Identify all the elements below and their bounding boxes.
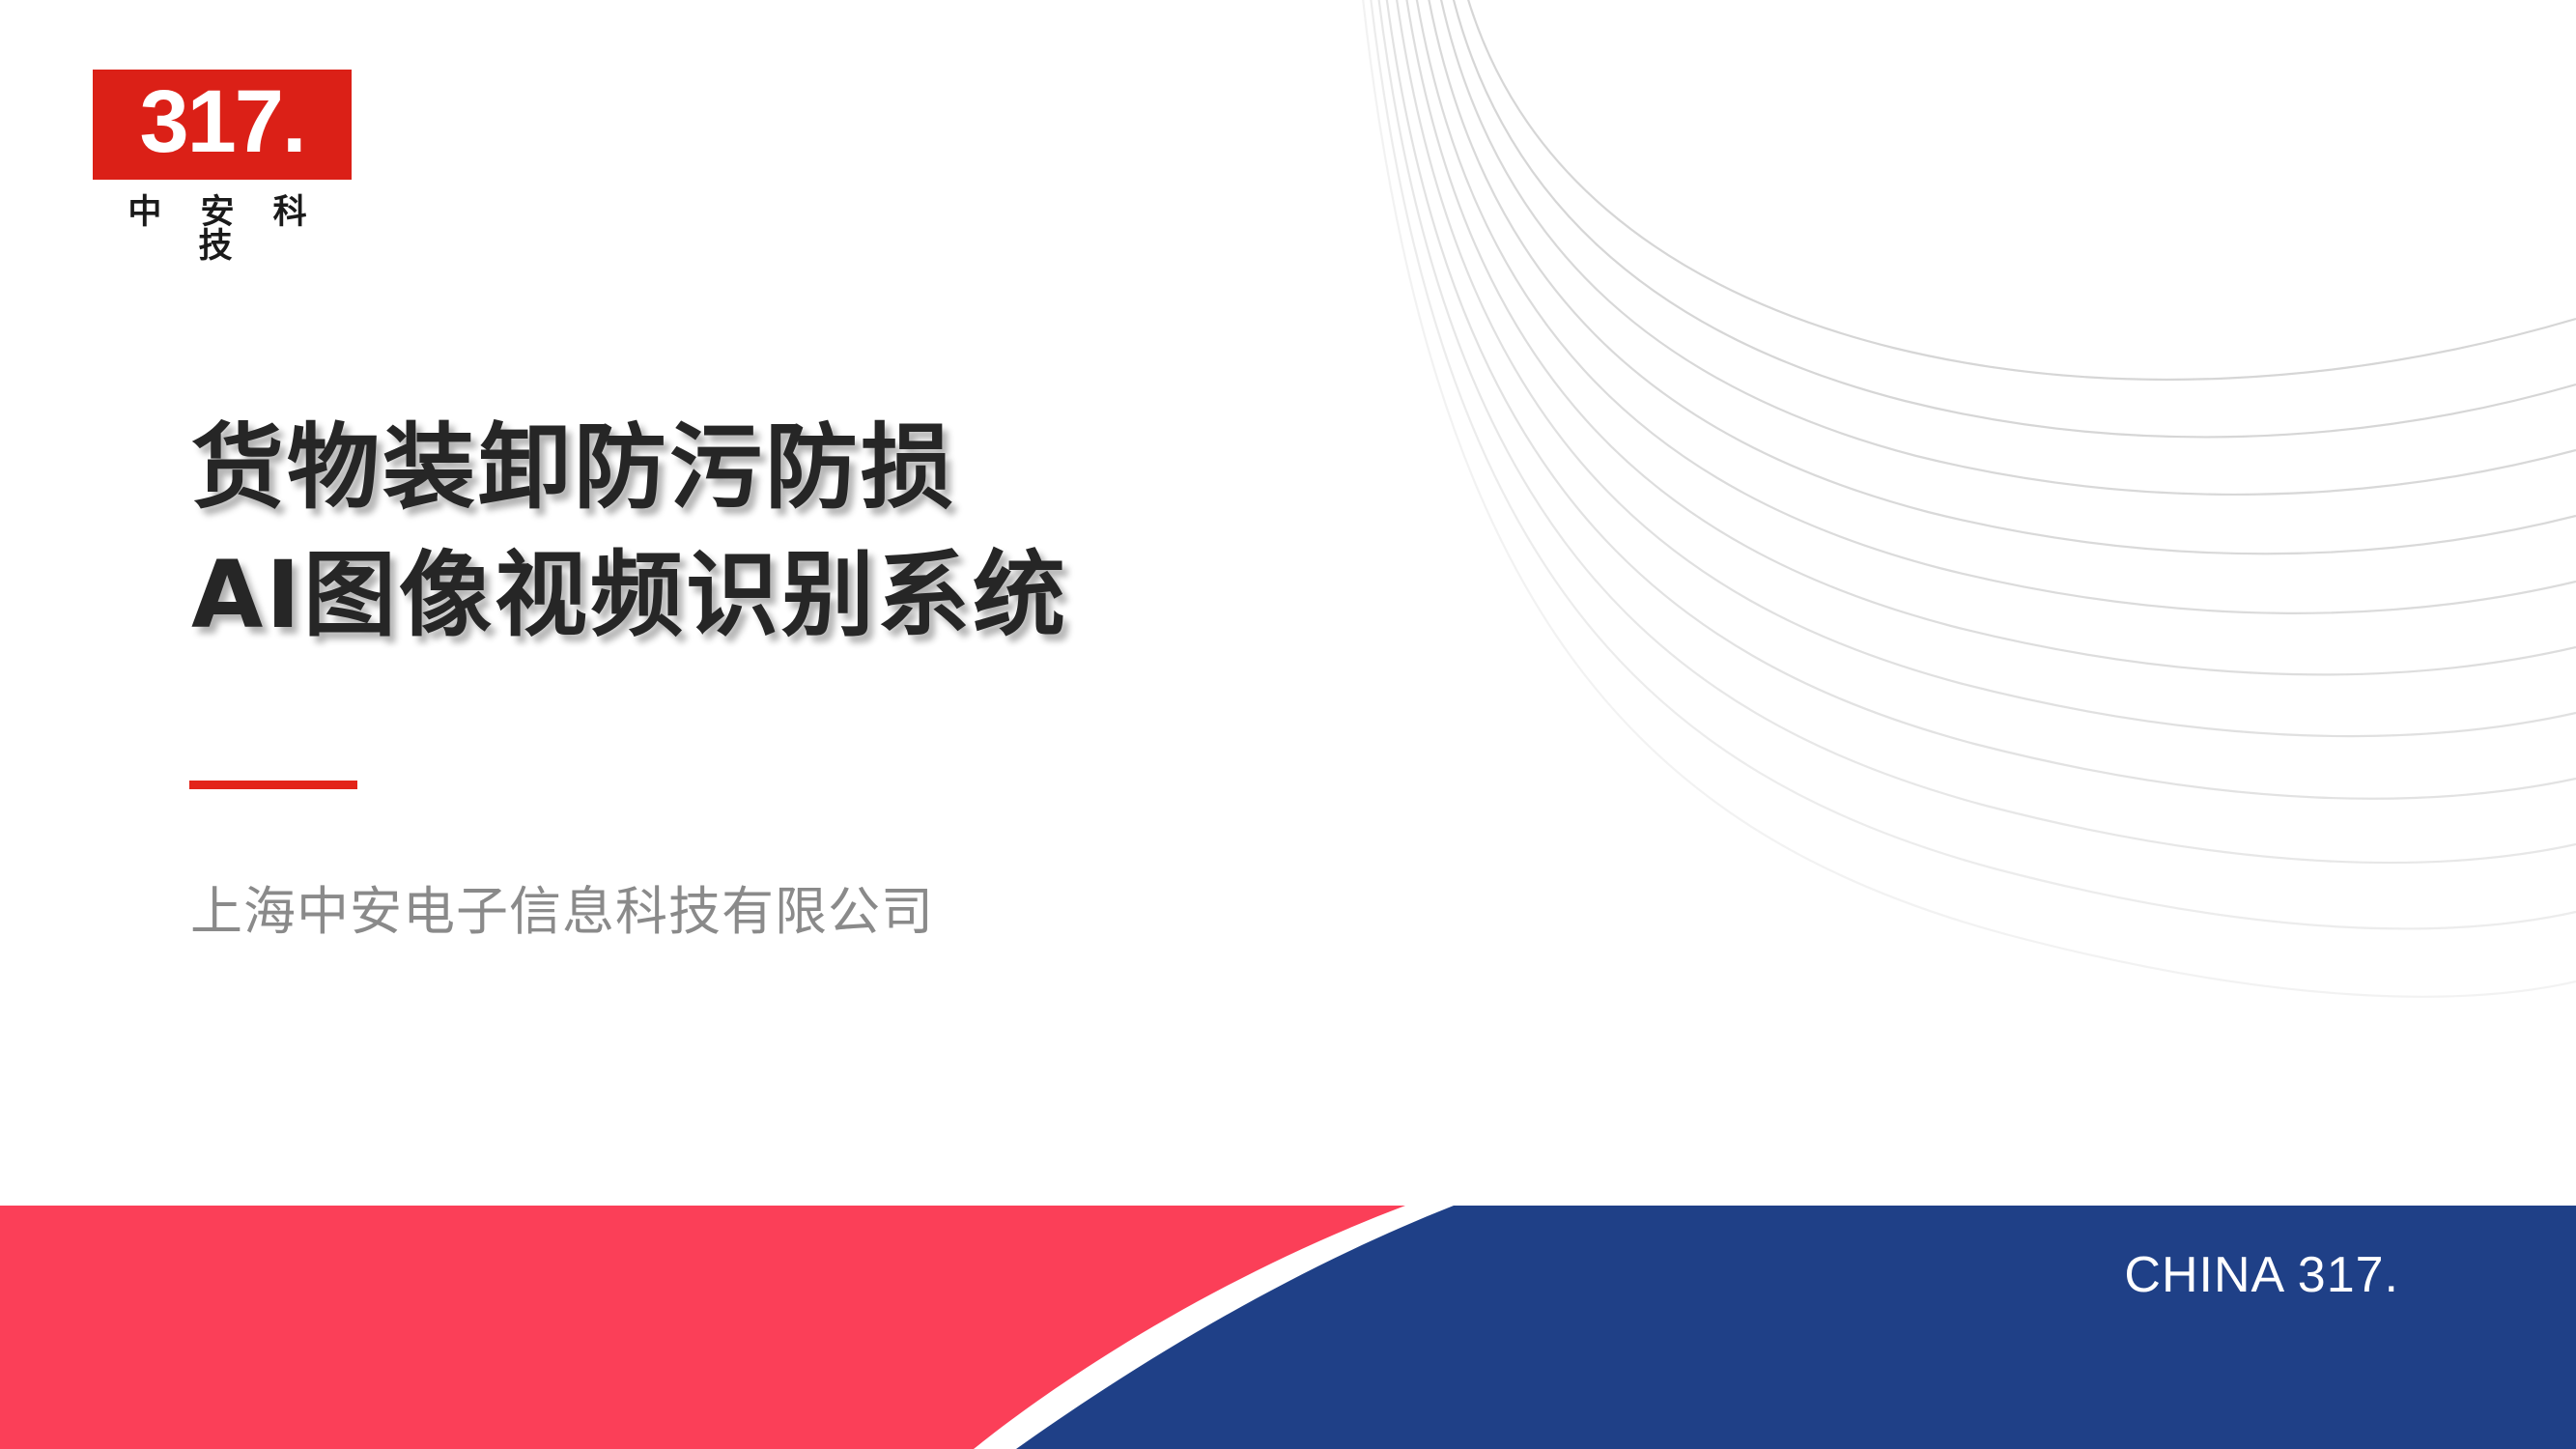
- title-line-2: AI图像视频识别系统: [191, 531, 1068, 659]
- banner-brand-text: CHINA 317.: [2124, 1248, 2399, 1302]
- logo-company-short: 中 安 科 技: [93, 196, 352, 264]
- title-line-1: 货物装卸防污防损: [191, 404, 1068, 531]
- company-logo: 317. 中 安 科 技: [93, 70, 352, 264]
- title-slide: 317. 中 安 科 技 货物装卸防污防损 AI图像视频识别系统 上海中安电子信…: [0, 0, 2576, 1449]
- company-name-subtitle: 上海中安电子信息科技有限公司: [190, 876, 934, 948]
- logo-mark-text: 317.: [139, 77, 304, 166]
- footer-banner: CHINA 317.: [0, 1206, 2576, 1449]
- footer-banner-shapes: [0, 1206, 2576, 1449]
- title-divider-rule: [189, 781, 357, 789]
- logo-mark-317: 317.: [93, 70, 352, 180]
- page-title: 货物装卸防污防损 AI图像视频识别系统: [191, 404, 1068, 659]
